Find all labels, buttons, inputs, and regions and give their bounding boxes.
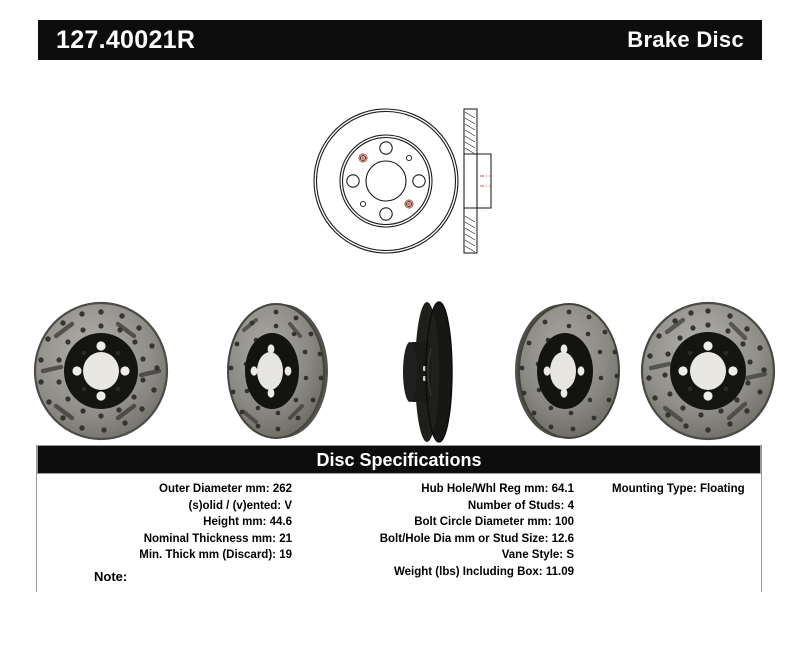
spec-label: Height mm: [203, 516, 266, 528]
spec-value: 64.1 [552, 483, 574, 495]
rotor-cross-section-line-drawing [464, 109, 491, 253]
spec-box-title: Disc Specifications [37, 445, 761, 474]
rotor-photo-edge-profile [383, 298, 488, 446]
rotor-photo-angled-right [503, 296, 643, 446]
note-label: Note: [94, 569, 127, 584]
rotor-photo-front-right [633, 296, 783, 446]
spec-row: Bolt/Hole Dia mm or Stud Size: 12.6 [292, 531, 574, 548]
note-row: Note: [36, 568, 762, 586]
spec-row: Mounting Type: Floating [584, 481, 761, 498]
spec-label: Bolt/Hole Dia mm or Stud Size: [380, 533, 549, 545]
spec-row: Nominal Thickness mm: 21 [41, 531, 292, 548]
spec-label: Mounting Type: [612, 483, 697, 495]
spec-row: Hub Hole/Whl Reg mm: 64.1 [292, 481, 574, 498]
rotor-photo-angled-left [208, 296, 348, 446]
spec-label: Vane Style: [502, 549, 563, 561]
spec-row: Vane Style: S [292, 547, 574, 564]
spec-value: S [566, 549, 574, 561]
spec-row: Number of Studs: 4 [292, 498, 574, 515]
spec-value: 21 [279, 533, 292, 545]
spec-value: 44.6 [270, 516, 292, 528]
spec-label: Outer Diameter mm: [159, 483, 270, 495]
spec-row: (s)olid / (v)ented: V [41, 498, 292, 515]
spec-value: 19 [279, 549, 292, 561]
spec-row: Height mm: 44.6 [41, 514, 292, 531]
spec-value: 12.6 [552, 533, 574, 545]
technical-line-drawing [312, 92, 497, 272]
spec-label: Bolt Circle Diameter mm: [414, 516, 551, 528]
part-number: 127.40021R [56, 28, 195, 53]
spec-row: Min. Thick mm (Discard): 19 [41, 547, 292, 564]
spec-row: Outer Diameter mm: 262 [41, 481, 292, 498]
spec-value: V [284, 500, 292, 512]
spec-label: Hub Hole/Whl Reg mm: [421, 483, 548, 495]
spec-sheet-page: 127.40021R Brake Disc [0, 0, 800, 655]
spec-row: Bolt Circle Diameter mm: 100 [292, 514, 574, 531]
product-type-title: Brake Disc [627, 29, 744, 51]
rotor-front-line-drawing [312, 92, 497, 272]
spec-value: 262 [273, 483, 292, 495]
spec-label: Min. Thick mm (Discard): [139, 549, 276, 561]
spec-label: Nominal Thickness mm: [144, 533, 276, 545]
header-banner: 127.40021R Brake Disc [38, 20, 762, 60]
spec-label: Number of Studs: [468, 500, 564, 512]
rotor-photo-front-drilled-slotted [26, 296, 176, 446]
spec-value: 100 [555, 516, 574, 528]
spec-value: Floating [700, 483, 745, 495]
product-photo-row [18, 296, 786, 446]
spec-label: (s)olid / (v)ented: [188, 500, 281, 512]
